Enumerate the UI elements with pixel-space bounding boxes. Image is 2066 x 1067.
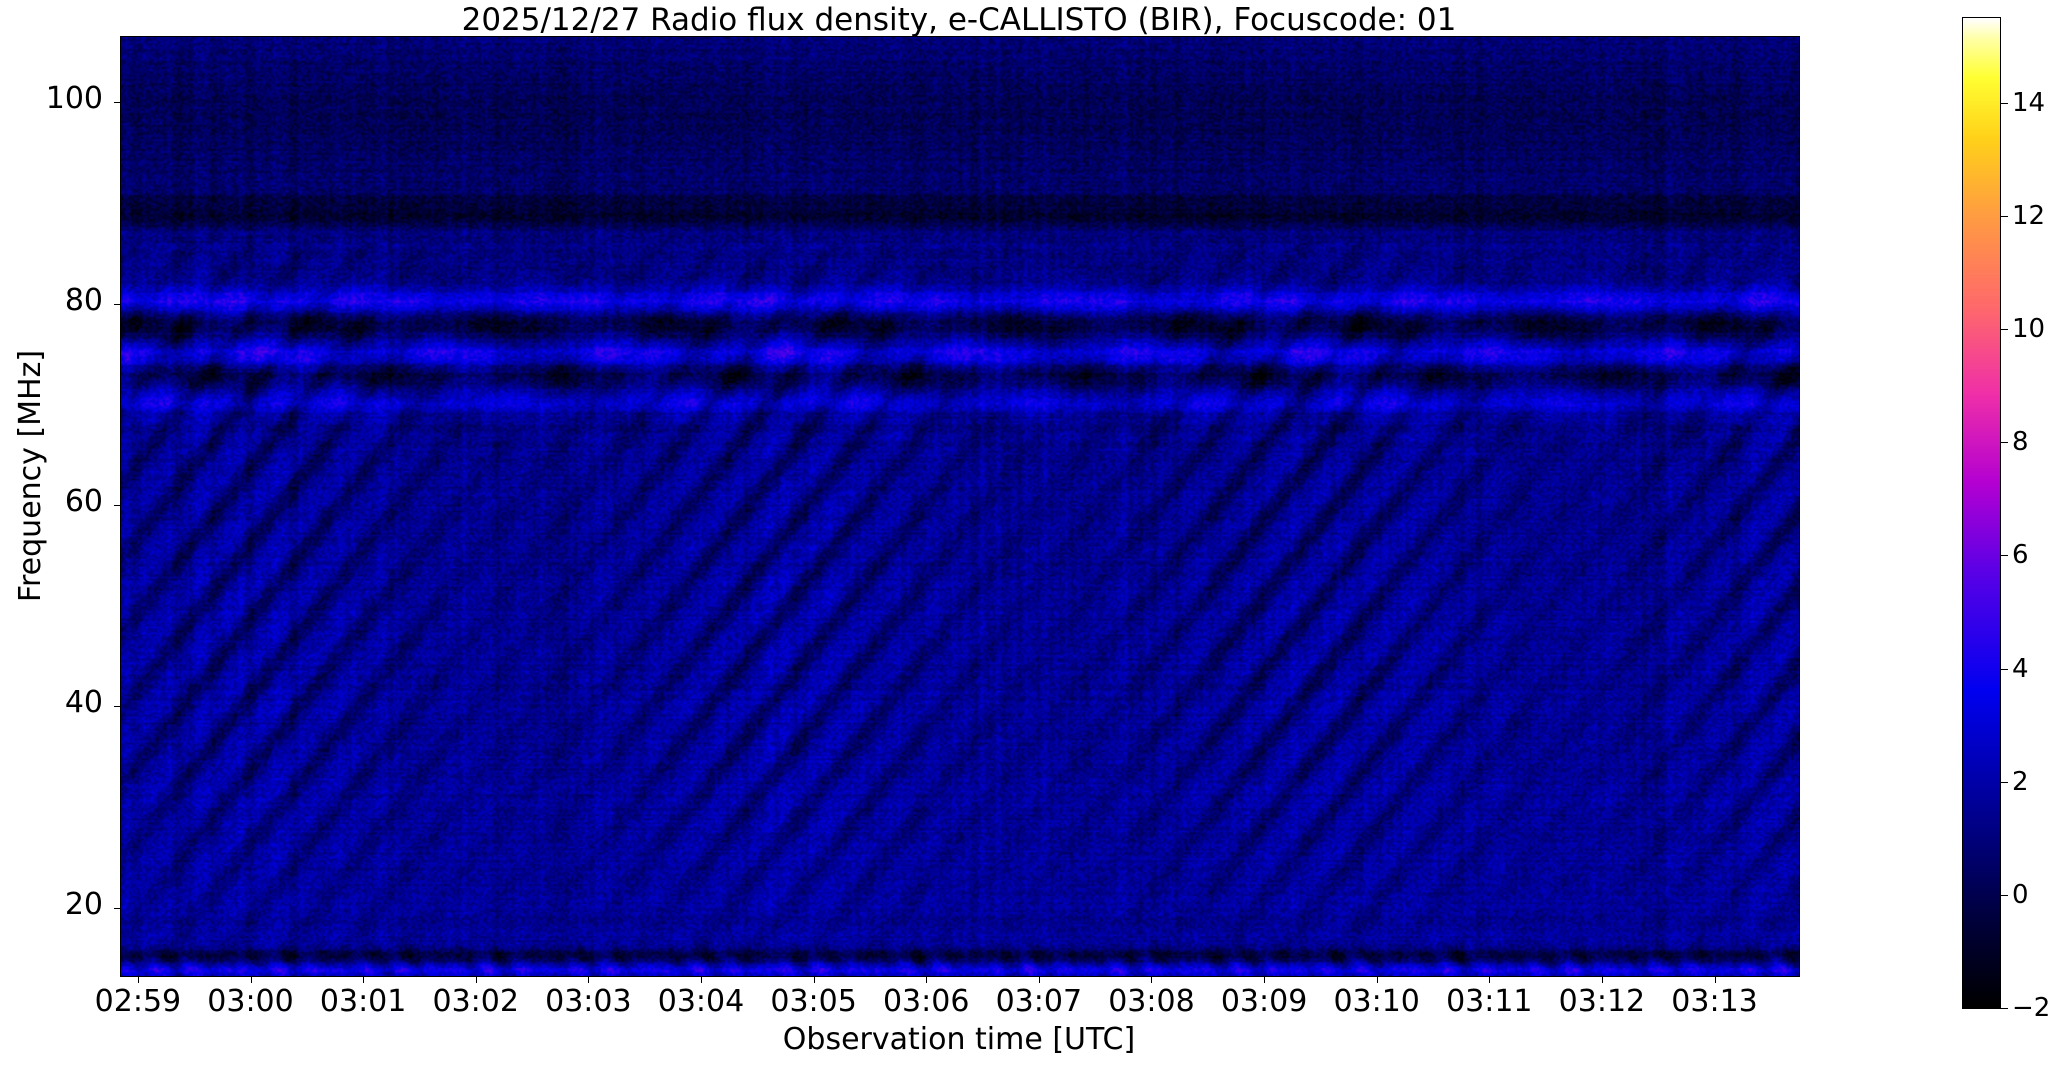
colorbar-tick-mark	[2000, 442, 2008, 443]
x-tick-mark	[363, 976, 364, 983]
page-title: 2025/12/27 Radio flux density, e-CALLIST…	[120, 2, 1798, 38]
colorbar-tick-label: 4	[2012, 654, 2029, 684]
x-tick-label: 03:02	[433, 984, 519, 1019]
x-tick-label: 03:01	[320, 984, 406, 1019]
colorbar-tick-mark	[2000, 669, 2008, 670]
x-tick-mark	[588, 976, 589, 983]
colorbar-tick-mark	[2000, 555, 2008, 556]
x-tick-mark	[1377, 976, 1378, 983]
y-tick-mark	[114, 505, 121, 506]
colorbar-tick-mark	[2000, 103, 2008, 104]
x-tick-label: 03:12	[1559, 984, 1645, 1019]
x-tick-mark	[1489, 976, 1490, 983]
x-tick-mark	[1715, 976, 1716, 983]
y-tick-label: 60	[0, 484, 103, 519]
x-tick-mark	[1151, 976, 1152, 983]
x-tick-mark	[701, 976, 702, 983]
y-axis-label: Frequency [MHz]	[13, 0, 48, 956]
y-tick-label: 80	[0, 283, 103, 318]
colorbar	[1962, 17, 2001, 1009]
x-tick-mark	[251, 976, 252, 983]
colorbar-tick-mark	[2000, 329, 2008, 330]
colorbar-tick-label: 0	[2012, 880, 2029, 910]
colorbar-tick-label: 2	[2012, 767, 2029, 797]
colorbar-tick-mark	[2000, 782, 2008, 783]
colorbar-tick-mark	[2000, 895, 2008, 896]
x-tick-label: 03:03	[545, 984, 631, 1019]
figure-root: 2025/12/27 Radio flux density, e-CALLIST…	[0, 0, 2066, 1067]
colorbar-tick-label: 6	[2012, 540, 2029, 570]
y-tick-label: 40	[0, 685, 103, 720]
x-tick-mark	[1264, 976, 1265, 983]
y-tick-label: 20	[0, 887, 103, 922]
colorbar-tick-label: 12	[2012, 201, 2045, 231]
x-tick-label: 03:05	[770, 984, 856, 1019]
x-tick-label: 02:59	[95, 984, 181, 1019]
colorbar-tick-label: 14	[2012, 88, 2045, 118]
x-tick-label: 03:13	[1671, 984, 1757, 1019]
x-tick-mark	[1602, 976, 1603, 983]
x-tick-mark	[138, 976, 139, 983]
x-tick-label: 03:09	[1221, 984, 1307, 1019]
y-tick-mark	[114, 102, 121, 103]
x-tick-label: 03:04	[658, 984, 744, 1019]
x-tick-label: 03:06	[883, 984, 969, 1019]
spectrogram-image	[121, 37, 1799, 976]
x-tick-label: 03:07	[996, 984, 1082, 1019]
colorbar-tick-label: 8	[2012, 427, 2029, 457]
x-tick-label: 03:08	[1108, 984, 1194, 1019]
colorbar-tick-label: 10	[2012, 314, 2045, 344]
y-tick-mark	[114, 908, 121, 909]
y-tick-mark	[114, 304, 121, 305]
x-tick-mark	[926, 976, 927, 983]
y-tick-label: 100	[0, 81, 103, 116]
x-tick-label: 03:11	[1446, 984, 1532, 1019]
colorbar-tick-mark	[2000, 216, 2008, 217]
x-tick-mark	[1039, 976, 1040, 983]
colorbar-tick-label: −2	[2012, 993, 2050, 1023]
spectrogram-axes	[120, 36, 1800, 977]
colorbar-tick-mark	[2000, 1008, 2008, 1009]
x-tick-mark	[814, 976, 815, 983]
x-tick-mark	[476, 976, 477, 983]
x-tick-label: 03:10	[1333, 984, 1419, 1019]
y-tick-mark	[114, 706, 121, 707]
colorbar-gradient	[1963, 18, 2000, 1008]
x-axis-label: Observation time [UTC]	[120, 1022, 1798, 1057]
x-tick-label: 03:00	[207, 984, 293, 1019]
